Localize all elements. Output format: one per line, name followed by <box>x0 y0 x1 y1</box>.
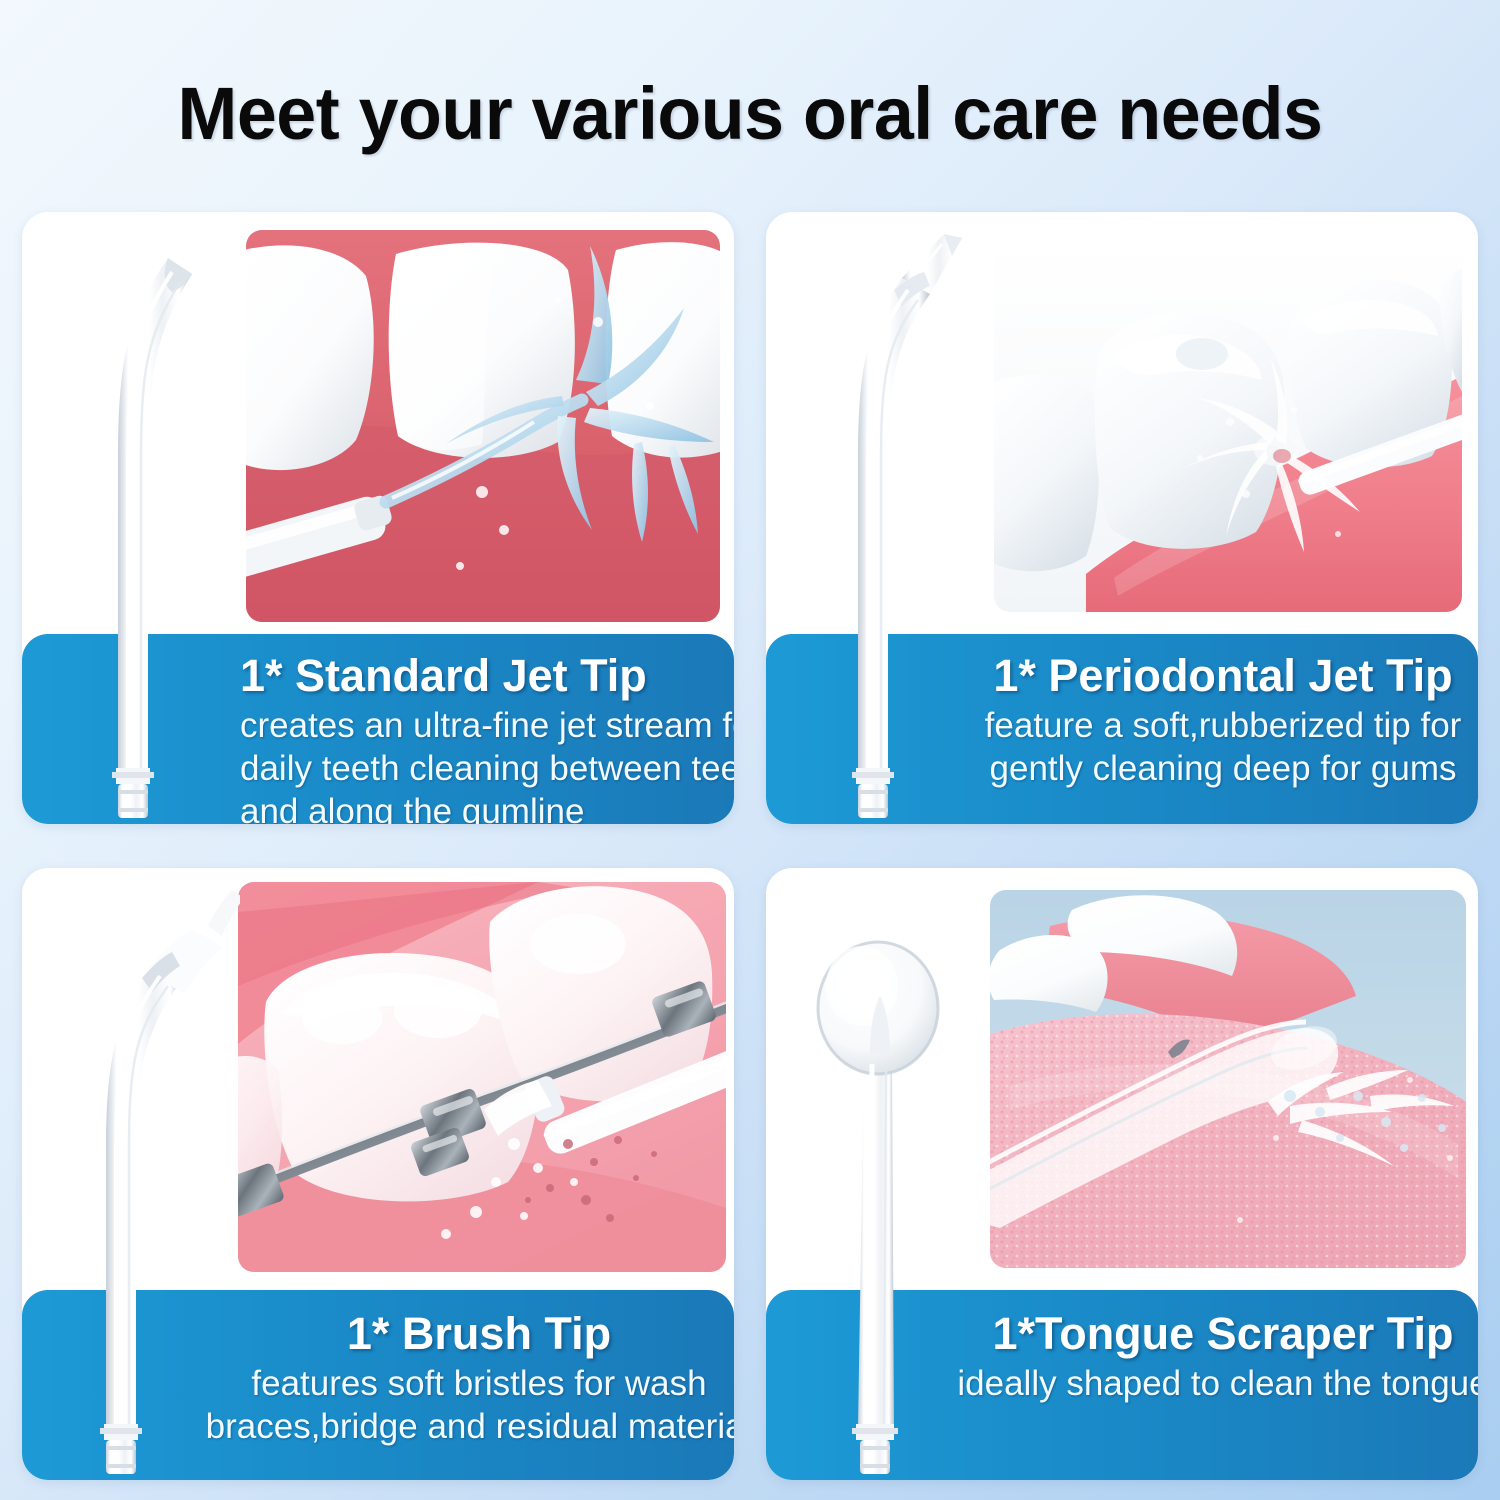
feature-card-standard-jet-tip[interactable]: 1* Standard Jet Tip creates an ultra-fin… <box>22 212 734 824</box>
card-description-line: daily teeth cleaning between teeth <box>240 747 734 790</box>
card-title: 1* Periodontal Jet Tip <box>993 648 1452 704</box>
front-teeth-water-jet-illustration <box>246 230 720 622</box>
card-description: ideally shaped to clean the tongue <box>957 1362 1478 1405</box>
card-title: 1*Tongue Scraper Tip <box>993 1306 1454 1362</box>
braces-brackets-cleaning-illustration <box>238 882 726 1272</box>
infographic-page: Meet your various oral care needs <box>0 0 1500 1500</box>
card-description-line: braces,bridge and residual material <box>206 1405 734 1448</box>
feature-card-tongue-scraper-tip[interactable]: 1*Tongue Scraper Tip ideally shaped to c… <box>766 868 1478 1480</box>
card-description-line: features soft bristles for wash <box>206 1362 734 1405</box>
card-description-line: feature a soft,rubberized tip for <box>985 704 1462 747</box>
tongue-scraper-tip-nozzle <box>766 868 984 1480</box>
periodontal-jet-tip-nozzle <box>766 212 984 824</box>
page-title: Meet your various oral care needs <box>23 72 1478 156</box>
brush-tip-nozzle <box>22 868 240 1480</box>
molar-gumline-jet-illustration <box>994 244 1462 612</box>
card-description: features soft bristles for wash braces,b… <box>206 1362 734 1448</box>
card-description-line: creates an ultra-fine jet stream for <box>240 704 734 747</box>
feature-card-periodontal-jet-tip[interactable]: 1* Periodontal Jet Tip feature a soft,ru… <box>766 212 1478 824</box>
card-title: 1* Standard Jet Tip <box>240 648 647 704</box>
feature-card-brush-tip[interactable]: 1* Brush Tip features soft bristles for … <box>22 868 734 1480</box>
card-description-line: ideally shaped to clean the tongue <box>957 1362 1478 1405</box>
card-description: creates an ultra-fine jet stream for dai… <box>240 704 734 824</box>
card-description-line: gently cleaning deep for gums <box>985 747 1462 790</box>
card-description-line: and along the gumline <box>240 790 734 824</box>
tongue-surface-cleaning-illustration <box>990 890 1466 1268</box>
standard-jet-tip-nozzle <box>22 212 240 824</box>
card-description: feature a soft,rubberized tip for gently… <box>985 704 1462 790</box>
feature-card-grid: 1* Standard Jet Tip creates an ultra-fin… <box>22 212 1478 1480</box>
card-title: 1* Brush Tip <box>347 1306 611 1362</box>
